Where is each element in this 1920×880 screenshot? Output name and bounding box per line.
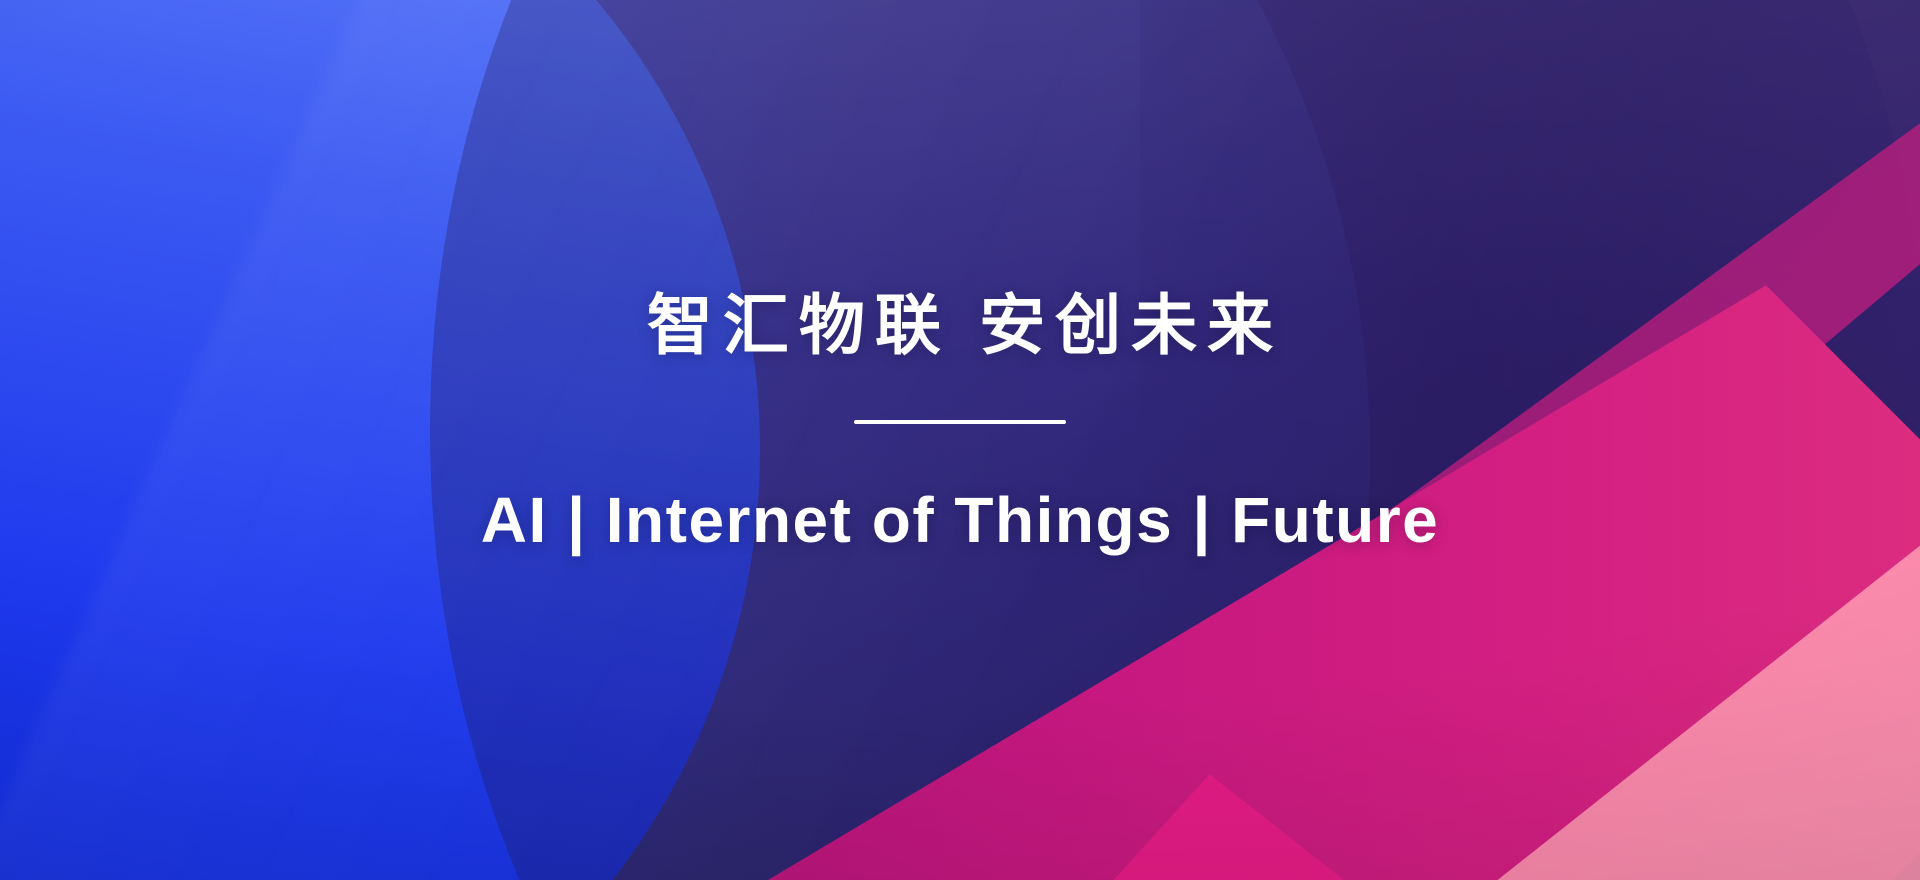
divider-rule [854, 420, 1066, 424]
hero-banner: 智汇物联 安创未来 AI | Internet of Things | Futu… [0, 0, 1920, 880]
headline-chinese: 智汇物联 安创未来 [637, 292, 1283, 358]
headline-english: AI | Internet of Things | Future [481, 488, 1439, 552]
banner-content: 智汇物联 安创未来 AI | Internet of Things | Futu… [0, 0, 1920, 880]
